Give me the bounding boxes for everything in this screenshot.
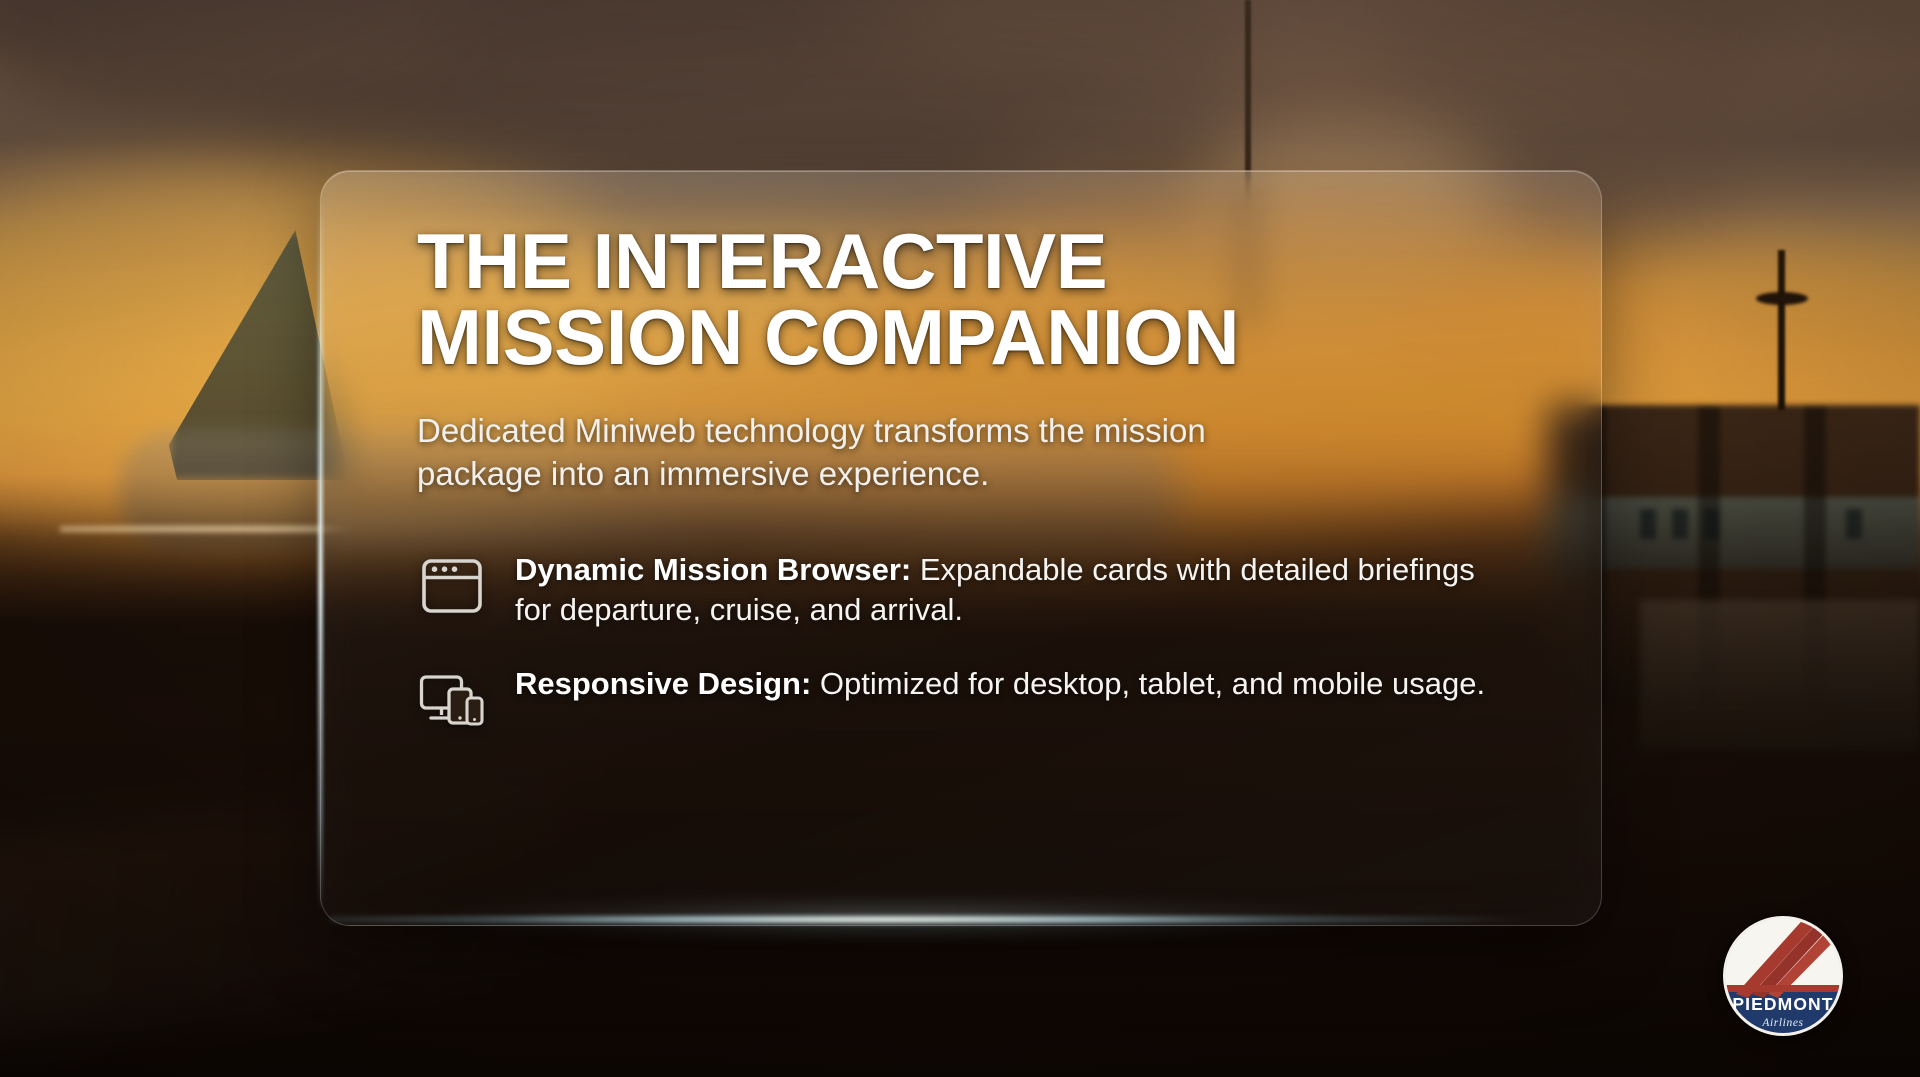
jet-bridge [1640,600,1920,750]
feature-item-responsive-design: Responsive Design: Optimized for desktop… [417,664,1505,732]
feature-text: Dynamic Mission Browser: Expandable card… [515,550,1505,631]
feature-title: Responsive Design: [515,666,811,701]
feature-body: Optimized for desktop, tablet, and mobil… [811,666,1485,701]
logo-script: Airlines [1761,1017,1803,1029]
feature-list: Dynamic Mission Browser: Expandable card… [417,550,1505,733]
logo-wordmark: PIEDMONT [1732,994,1833,1014]
page-title: THE INTERACTIVE MISSION COMPANION [417,223,1505,376]
light-pole [1778,250,1785,410]
glass-content-card: THE INTERACTIVE MISSION COMPANION Dedica… [320,170,1602,926]
subtitle-text: Dedicated Miniweb technology transforms … [417,410,1297,496]
feature-text: Responsive Design: Optimized for desktop… [515,664,1485,704]
feature-item-dynamic-mission-browser: Dynamic Mission Browser: Expandable card… [417,550,1505,631]
feature-title: Dynamic Mission Browser: [515,552,911,587]
responsive-devices-icon [417,668,487,732]
slide-canvas: THE INTERACTIVE MISSION COMPANION Dedica… [0,0,1920,1077]
piedmont-airlines-logo: PIEDMONT Airlines [1708,898,1858,1048]
browser-window-icon [417,554,487,618]
light-pole-head [1756,292,1808,305]
